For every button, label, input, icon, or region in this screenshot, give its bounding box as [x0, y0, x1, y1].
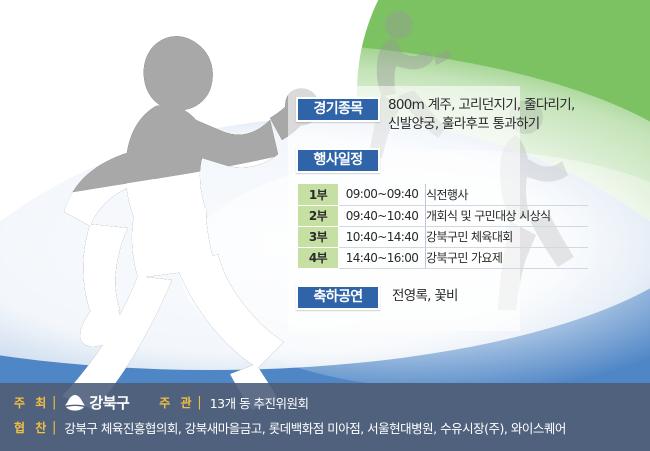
- row-desc: 강북구민 체육대회: [426, 226, 589, 247]
- label-schedule: 행사일정: [296, 148, 380, 173]
- gangbuk-logo-text: 강북구: [89, 392, 129, 413]
- runner-silhouette-large: [38, 10, 328, 410]
- organizer-label: 주 관: [159, 394, 195, 411]
- sponsor-value: 강북구 체육진흥협의회, 강북새마을금고, 롯데백화점 미아점, 서울현대병원,…: [64, 418, 565, 437]
- organizer-group: 주 관 | 13개 동 추진위원회: [159, 393, 308, 412]
- event-poster: 경기종목 800m 계주, 고리던지기, 줄다리기, 신발양궁, 훌라후프 통과…: [0, 0, 650, 451]
- sponsor-divider: |: [52, 420, 56, 435]
- host-label: 주 최: [14, 394, 50, 411]
- row-part: 4부: [298, 247, 339, 268]
- table-row: 4부 14:40~16:00 강북구민 가요제: [298, 247, 588, 268]
- row-part: 1부: [298, 184, 339, 205]
- row-time: 09:00~09:40: [339, 184, 426, 205]
- row-time: 14:40~16:00: [339, 247, 426, 268]
- row-desc: 식전행사: [426, 184, 589, 205]
- sponsor-label: 협 찬: [14, 419, 50, 436]
- table-row: 2부 09:40~10:40 개회식 및 구민대상 시상식: [298, 205, 588, 226]
- host-divider: |: [52, 395, 56, 410]
- table-row: 1부 09:00~09:40 식전행사: [298, 184, 588, 205]
- schedule-table-body: 1부 09:00~09:40 식전행사 2부 09:40~10:40 개회식 및…: [298, 184, 588, 268]
- organizer-divider: |: [197, 395, 201, 410]
- row-desc: 개회식 및 구민대상 시상식: [426, 205, 589, 226]
- row-part: 2부: [298, 205, 339, 226]
- gangbuk-mountain-logo-icon: [64, 394, 89, 411]
- label-celebration-show: 축하공연: [296, 285, 380, 310]
- celebration-show-value: 전영록, 꽃비: [392, 287, 612, 306]
- row-time: 10:40~14:40: [339, 226, 426, 247]
- row-time: 09:40~10:40: [339, 205, 426, 226]
- table-row: 3부 10:40~14:40 강북구민 체육대회: [298, 226, 588, 247]
- events-value: 800m 계주, 고리던지기, 줄다리기, 신발양궁, 훌라후프 통과하기: [388, 96, 638, 134]
- schedule-table: 1부 09:00~09:40 식전행사 2부 09:40~10:40 개회식 및…: [298, 184, 588, 269]
- row-desc: 강북구민 가요제: [426, 247, 589, 268]
- organizer-value: 13개 동 추진위원회: [210, 393, 309, 412]
- footer-bar: 주 최 | 강북구 주 관 | 13개 동 추진위원회 협 찬 | 강북구 체: [0, 383, 650, 451]
- footer-row-host: 주 최 | 강북구 주 관 | 13개 동 추진위원회: [0, 390, 650, 414]
- footer-row-sponsor: 협 찬 | 강북구 체육진흥협의회, 강북새마을금고, 롯데백화점 미아점, 서…: [0, 415, 650, 439]
- row-part: 3부: [298, 226, 339, 247]
- info-panel: 경기종목 800m 계주, 고리던지기, 줄다리기, 신발양궁, 훌라후프 통과…: [288, 86, 520, 331]
- gangbuk-logo: 강북구: [64, 392, 129, 413]
- label-events: 경기종목: [296, 97, 380, 122]
